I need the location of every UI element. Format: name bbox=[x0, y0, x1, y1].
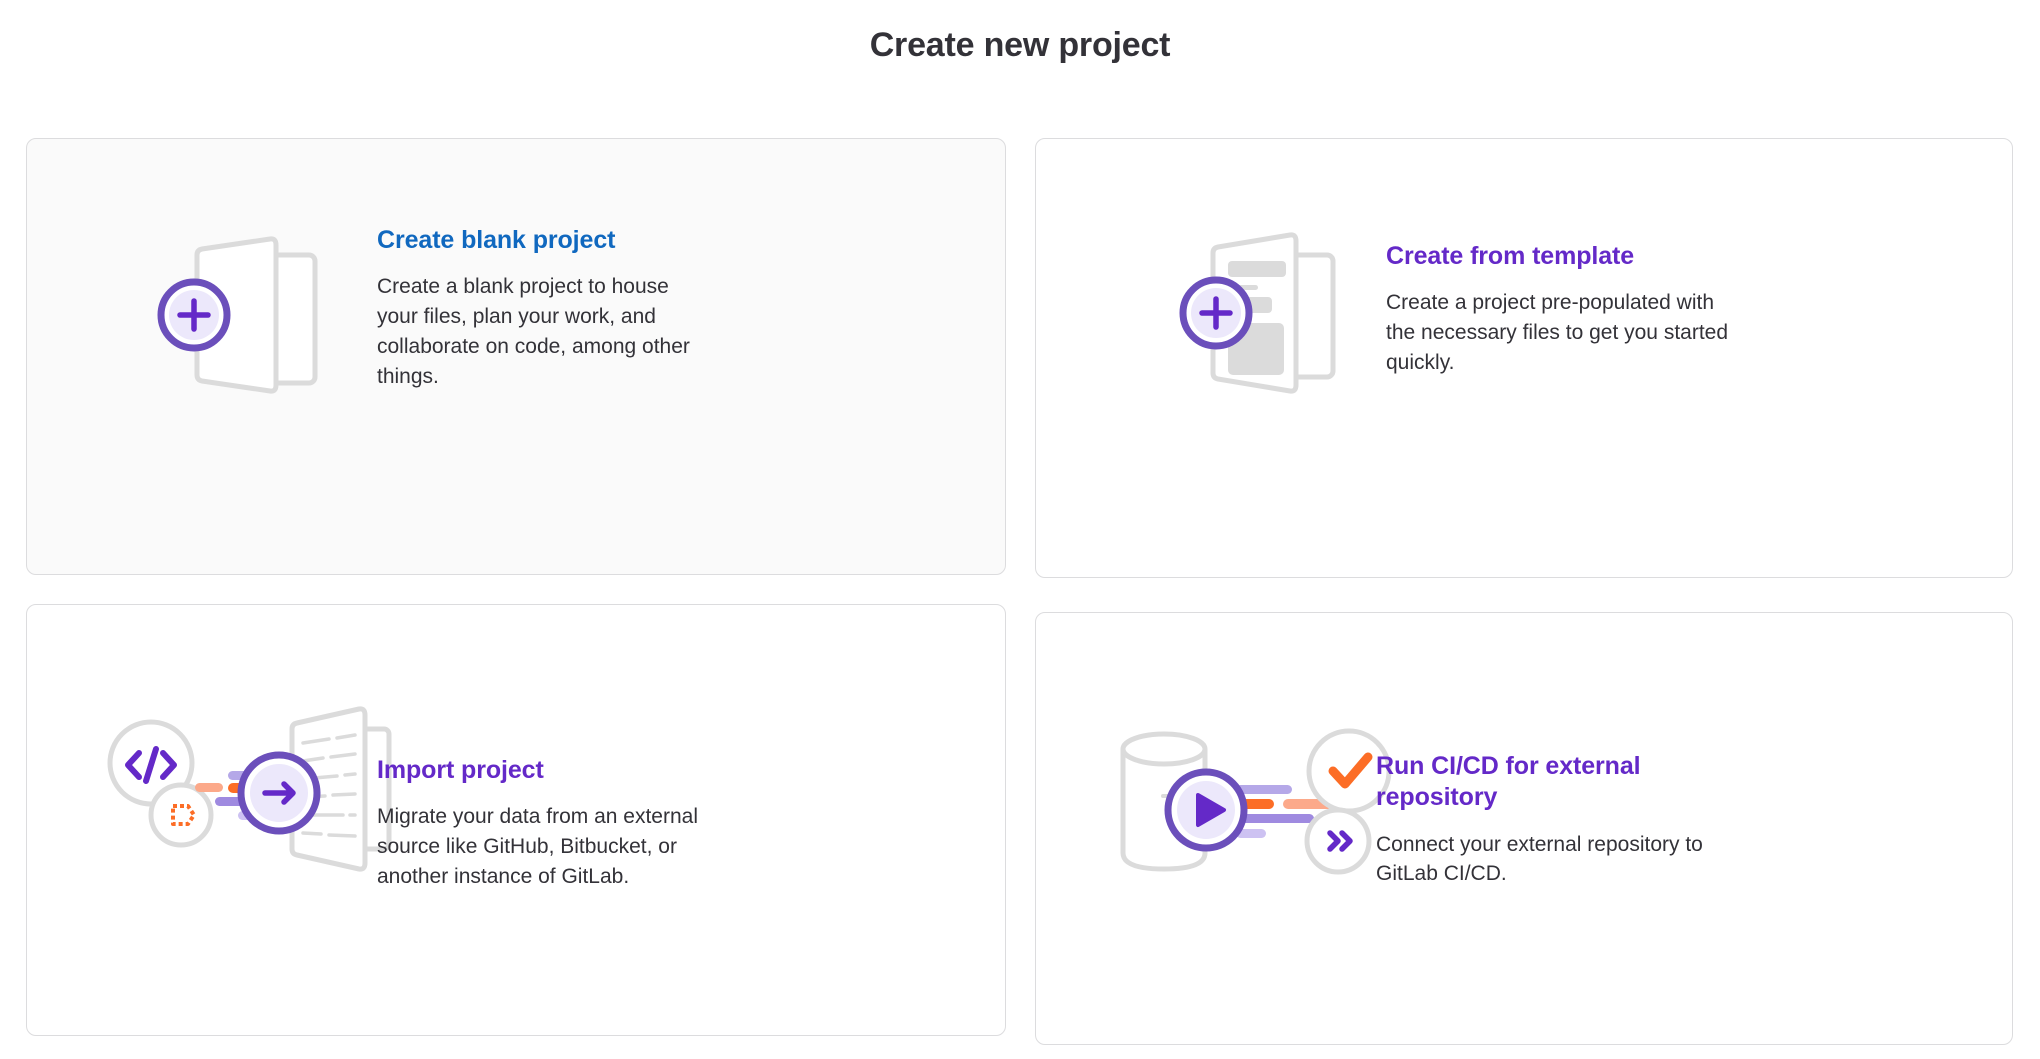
card-body-create-blank-project: Create blank project Create a blank proj… bbox=[377, 139, 777, 392]
template-project-illustration-wrap bbox=[1036, 139, 1386, 405]
blank-project-illustration-wrap bbox=[27, 139, 377, 407]
card-heading-run-cicd-external-repository: Run CI/CD for external repository bbox=[1376, 751, 1736, 814]
create-new-project-page: Create new project Create blank project … bbox=[0, 0, 2040, 1059]
import-project-illustration bbox=[97, 705, 397, 875]
card-heading-create-from-template: Create from template bbox=[1386, 241, 1736, 272]
page-title: Create new project bbox=[0, 26, 2040, 65]
card-body-import-project: Import project Migrate your data from an… bbox=[377, 605, 797, 892]
card-description-run-cicd-external-repository: Connect your external repository to GitL… bbox=[1376, 830, 1736, 890]
card-body-create-from-template: Create from template Create a project pr… bbox=[1386, 139, 1806, 378]
cicd-external-repo-illustration bbox=[1111, 723, 1401, 888]
card-heading-import-project: Import project bbox=[377, 755, 727, 786]
card-run-cicd-external-repository[interactable]: Run CI/CD for external repository Connec… bbox=[1035, 612, 2013, 1045]
template-project-illustration bbox=[1186, 225, 1386, 405]
card-import-project[interactable]: Import project Migrate your data from an… bbox=[26, 604, 1006, 1036]
card-heading-create-blank-project: Create blank project bbox=[377, 225, 697, 256]
card-description-create-from-template: Create a project pre-populated with the … bbox=[1386, 288, 1736, 377]
card-create-blank-project[interactable]: Create blank project Create a blank proj… bbox=[26, 138, 1006, 575]
cicd-external-repo-illustration-wrap bbox=[1036, 613, 1376, 888]
card-description-create-blank-project: Create a blank project to house your fil… bbox=[377, 272, 697, 391]
import-project-illustration-wrap bbox=[27, 605, 377, 875]
blank-project-illustration bbox=[172, 227, 372, 407]
card-description-import-project: Migrate your data from an external sourc… bbox=[377, 802, 727, 891]
card-create-from-template[interactable]: Create from template Create a project pr… bbox=[1035, 138, 2013, 578]
card-body-run-cicd-external-repository: Run CI/CD for external repository Connec… bbox=[1376, 613, 1806, 889]
